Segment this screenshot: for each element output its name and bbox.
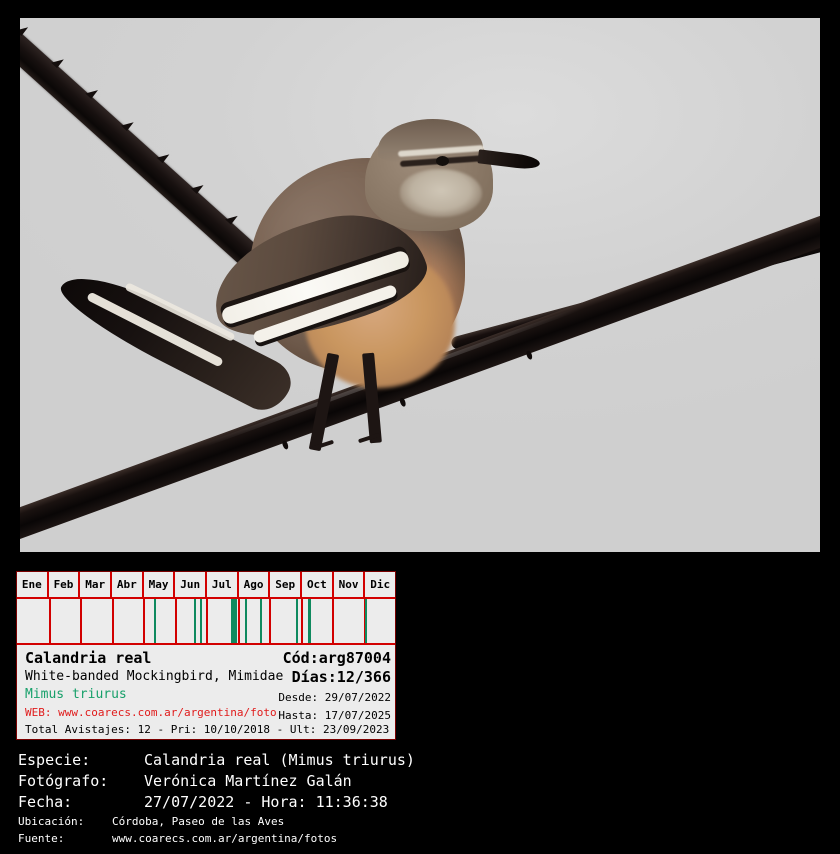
species-code: Cód:arg87004 [283,648,391,668]
calendar-month-separator [112,599,114,643]
bird-photo [20,18,820,552]
photo-metadata: Especie: Calandria real (Mimus triurus) … [18,750,618,847]
meta-row-especie: Especie: Calandria real (Mimus triurus) [18,750,618,771]
calendar-sighting-tick [245,599,247,643]
calendar-month-may: May [144,572,176,597]
calendar-month-nov: Nov [334,572,366,597]
species-range-to: Hasta: 17/07/2025 [278,707,391,724]
fecha-value: 27/07/2022 - Hora: 11:36:38 [144,792,388,813]
calendar-sighting-tick [365,599,367,643]
bird-eye [436,156,449,166]
meta-row-ubicacion: Ubicación: Córdoba, Paseo de las Aves [18,813,618,830]
fuente-value[interactable]: www.coarecs.com.ar/argentina/fotos [112,830,337,847]
calendar-month-dic: Dic [365,572,395,597]
calendar-month-separator [206,599,208,643]
calendar-sighting-tick [231,599,237,643]
calendar-sighting-tick [200,599,202,643]
meta-row-fotografo: Fotógrafo: Verónica Martínez Galán [18,771,618,792]
calendar-sighting-tick [260,599,262,643]
calendar-month-separator [301,599,303,643]
fotografo-label: Fotógrafo: [18,771,144,792]
calendar-month-separator [80,599,82,643]
fecha-label: Fecha: [18,792,144,813]
calendar-month-ago: Ago [239,572,271,597]
calendar-month-jul: Jul [207,572,239,597]
calendar-month-abr: Abr [112,572,144,597]
ubicacion-value: Córdoba, Paseo de las Aves [112,813,284,830]
calendar-month-mar: Mar [80,572,112,597]
calendar-sighting-strip [17,599,395,645]
meta-row-fecha: Fecha: 27/07/2022 - Hora: 11:36:38 [18,792,618,813]
species-info-block: Calandria real White-banded Mockingbird,… [17,645,395,739]
sighting-calendar-card: EneFebMarAbrMayJunJulAgoSepOctNovDic Cal… [16,571,396,740]
especie-value: Calandria real (Mimus triurus) [144,750,415,771]
bird-leg-front [309,353,339,451]
species-days-count: Días:12/366 [292,668,391,686]
calendar-month-separator [49,599,51,643]
bird-subject [100,103,540,493]
calendar-sighting-tick [154,599,156,643]
calendar-month-header: EneFebMarAbrMayJunJulAgoSepOctNovDic [17,572,395,599]
calendar-month-separator [175,599,177,643]
calendar-month-separator [269,599,271,643]
calendar-month-jun: Jun [175,572,207,597]
calendar-month-oct: Oct [302,572,334,597]
calendar-sighting-tick [296,599,298,643]
calendar-month-separator [238,599,240,643]
especie-label: Especie: [18,750,144,771]
calendar-month-separator [143,599,145,643]
species-range-from: Desde: 29/07/2022 [278,689,391,706]
fotografo-value: Verónica Martínez Galán [144,771,352,792]
bird-throat [400,169,482,217]
calendar-sighting-tick [194,599,196,643]
calendar-month-ene: Ene [17,572,49,597]
meta-row-fuente: Fuente: www.coarecs.com.ar/argentina/fot… [18,830,618,847]
calendar-month-sep: Sep [270,572,302,597]
calendar-sighting-tick [308,599,310,643]
calendar-month-feb: Feb [49,572,81,597]
ubicacion-label: Ubicación: [18,813,112,830]
fuente-label: Fuente: [18,830,112,847]
calendar-month-separator [332,599,334,643]
